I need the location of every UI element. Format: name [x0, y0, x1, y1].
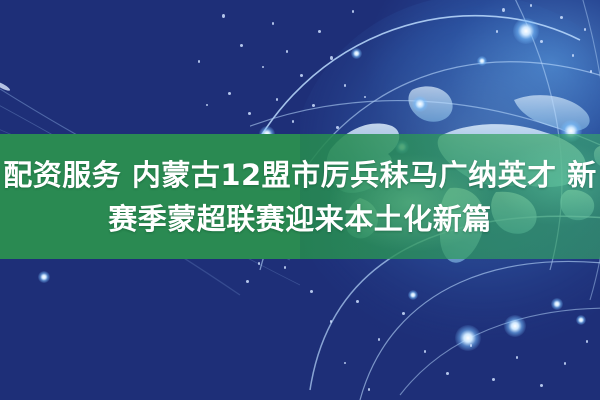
particle	[502, 8, 505, 12]
particle	[258, 262, 260, 265]
particle	[496, 30, 498, 33]
particle	[564, 362, 566, 365]
particle	[330, 320, 332, 323]
particle	[516, 356, 518, 359]
particle	[310, 290, 313, 293]
headline-line-2: 赛季蒙超联赛迎来本土化新篇	[108, 200, 492, 238]
particle	[248, 112, 251, 115]
particle	[272, 22, 274, 25]
particle	[540, 384, 543, 387]
particle	[246, 280, 249, 283]
particle	[584, 28, 586, 31]
particle	[336, 126, 339, 129]
particle	[368, 388, 370, 391]
particle	[318, 30, 321, 33]
particle	[540, 40, 543, 43]
particle	[344, 84, 346, 87]
particle	[222, 14, 225, 18]
news-banner: 配资服务 内蒙古12盟市厉兵秣马广纳英才 新 赛季蒙超联赛迎来本土化新篇	[0, 0, 600, 400]
particle	[590, 70, 592, 73]
particle	[446, 372, 449, 375]
particle	[586, 340, 588, 343]
particle	[284, 266, 286, 269]
headline-line-1: 配资服务 内蒙古12盟市厉兵秣马广纳英才 新	[3, 156, 597, 194]
particle	[378, 338, 380, 341]
particle	[356, 300, 359, 303]
particle	[344, 362, 346, 364]
particle	[330, 56, 333, 60]
particle	[198, 60, 200, 63]
particle	[228, 92, 231, 95]
particle	[492, 378, 495, 381]
particle	[424, 350, 426, 353]
particle	[300, 74, 303, 77]
particle	[560, 16, 563, 19]
particle	[276, 98, 278, 101]
particle	[352, 10, 354, 13]
particle	[206, 104, 208, 106]
particle	[240, 44, 243, 47]
headline-block: 配资服务 内蒙古12盟市厉兵秣马广纳英才 新 赛季蒙超联赛迎来本土化新篇	[0, 134, 600, 259]
particle	[572, 54, 574, 57]
particle	[470, 344, 472, 347]
particle	[262, 66, 264, 68]
particle	[364, 96, 366, 98]
particle	[402, 312, 405, 315]
particle	[530, 4, 532, 7]
particle	[312, 104, 315, 107]
particle	[286, 50, 288, 53]
particle	[292, 120, 294, 123]
